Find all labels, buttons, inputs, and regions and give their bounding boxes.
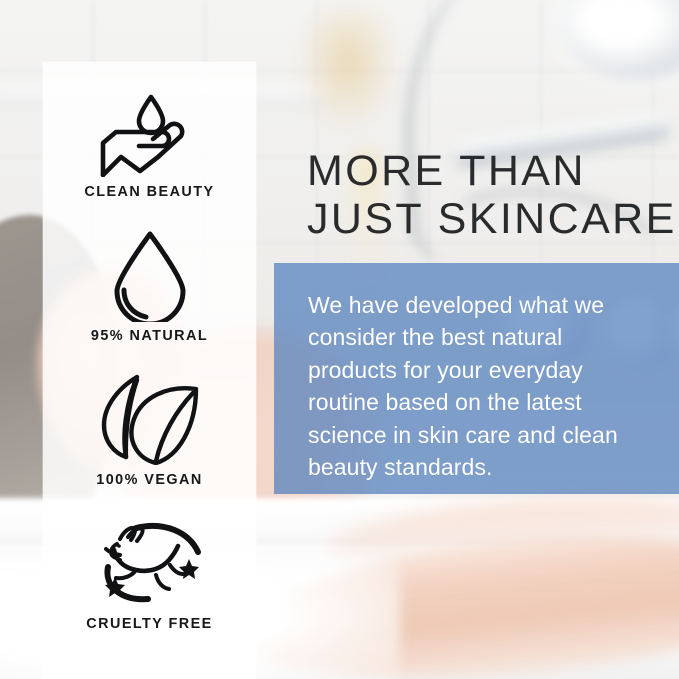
badge-cruelty-free: CRUELTY FREE [43,516,256,632]
badge-label: CRUELTY FREE [86,616,212,632]
leaping-bunny-icon [90,516,210,610]
badge-natural: 95% NATURAL [43,228,256,344]
badge-vegan: 100% VEGAN [43,372,256,488]
badge-label: CLEAN BEAUTY [84,184,214,200]
badge-clean-beauty: CLEAN BEAUTY [43,90,256,200]
badge-label: 95% NATURAL [91,328,208,344]
callout-body: We have developed what we consider the b… [308,289,649,483]
leaves-icon [92,372,208,466]
badge-label: 100% VEGAN [96,472,202,488]
water-drop-icon [107,228,193,322]
callout-box: We have developed what we consider the b… [274,263,679,494]
badge-panel: CLEAN BEAUTY 95% NATURAL [43,62,256,679]
hand-with-drop-icon [95,90,205,178]
page-title: MORE THAN JUST SKINCARE [307,147,677,243]
promo-banner: CLEAN BEAUTY 95% NATURAL [0,0,679,679]
warm-light-blur [300,8,396,128]
